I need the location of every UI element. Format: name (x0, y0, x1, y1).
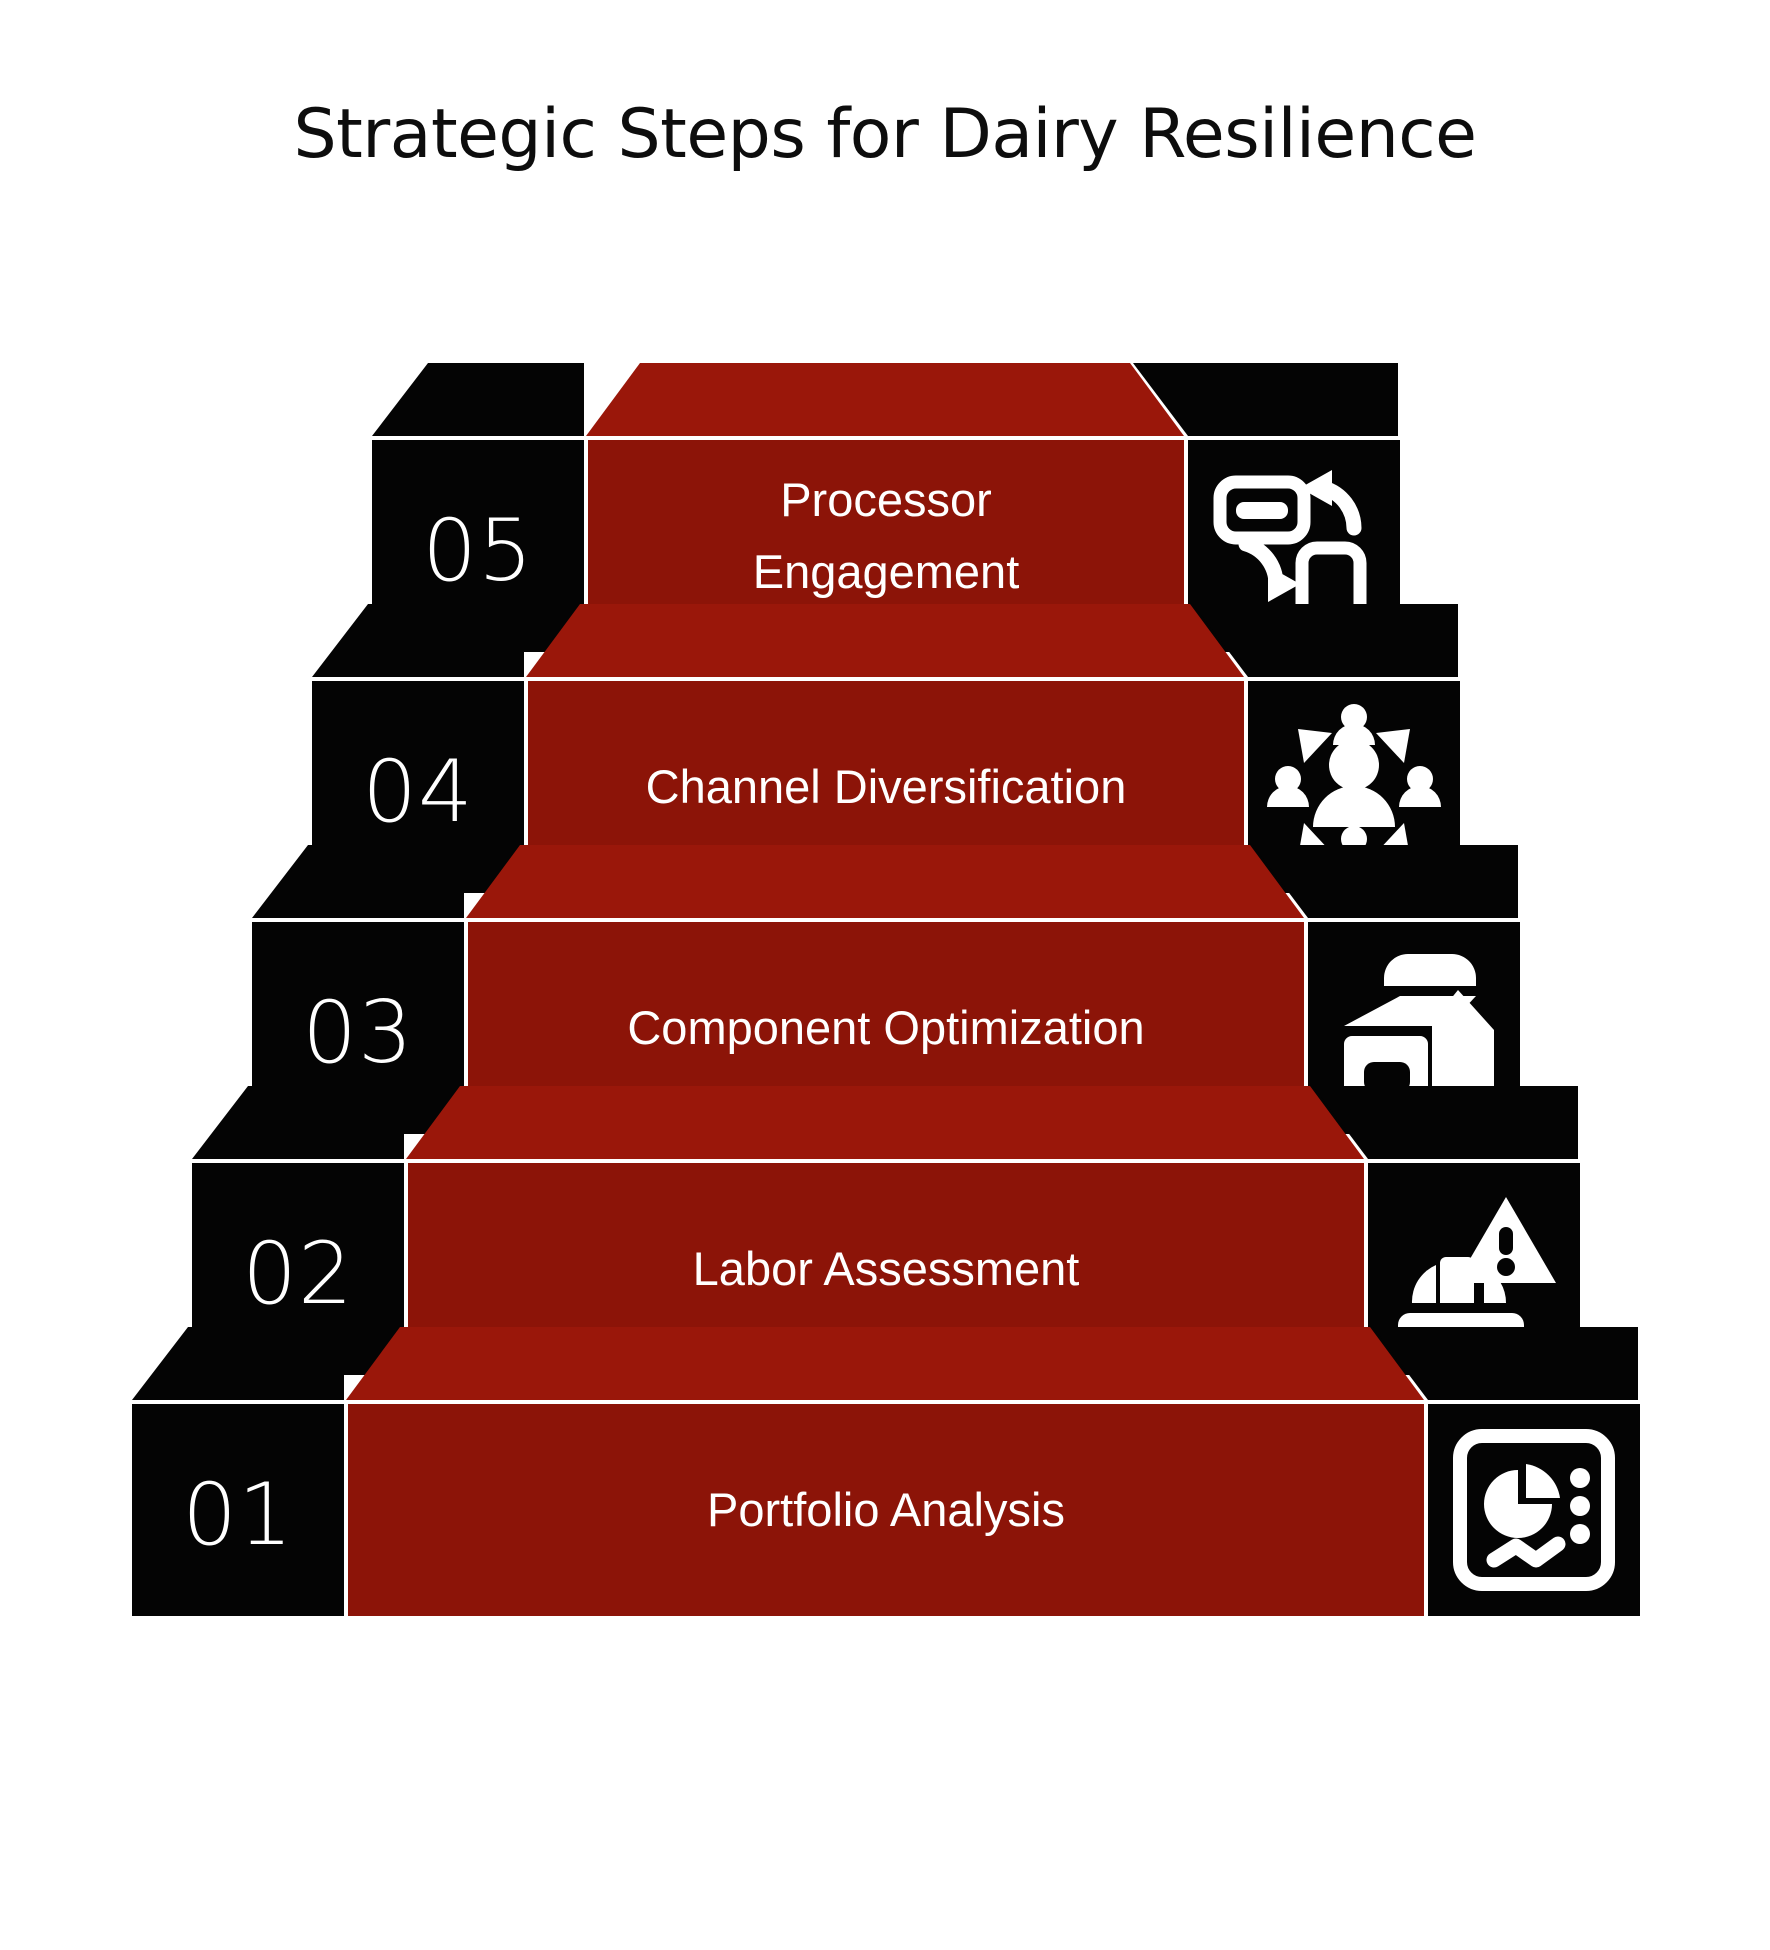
step-04-label: Channel Diversification (646, 760, 1127, 813)
step-01-top-face (346, 1327, 1424, 1400)
step-01-label: Portfolio Analysis (707, 1483, 1065, 1536)
step-02-label: Labor Assessment (693, 1242, 1080, 1295)
step-03-top-face (466, 845, 1304, 918)
step-03-number: 03 (302, 983, 413, 1083)
step-02-number-top-face (192, 1086, 404, 1159)
step-05-label-line2: Engagement (753, 545, 1020, 598)
infographic-root: Strategic Steps for Dairy Resilience 05 … (0, 0, 1770, 1950)
step-04-number: 04 (362, 742, 473, 842)
step-01-number-top-face (132, 1327, 344, 1400)
step-03-label: Component Optimization (627, 1001, 1144, 1054)
step-05-number-top-face (372, 363, 584, 436)
staircase-diagram: 05 Processor Engagement 04 (0, 0, 1770, 1950)
step-04-top-face (526, 604, 1244, 677)
step-03-number-top-face (252, 845, 464, 918)
step-05-top-face (586, 363, 1184, 436)
step-02-number: 02 (242, 1224, 353, 1324)
step-02-top-face (406, 1086, 1364, 1159)
step-05-label-line1: Processor (780, 473, 992, 526)
step-04-number-top-face (312, 604, 524, 677)
step-01-number: 01 (182, 1465, 293, 1565)
step-05-number: 05 (422, 501, 533, 601)
